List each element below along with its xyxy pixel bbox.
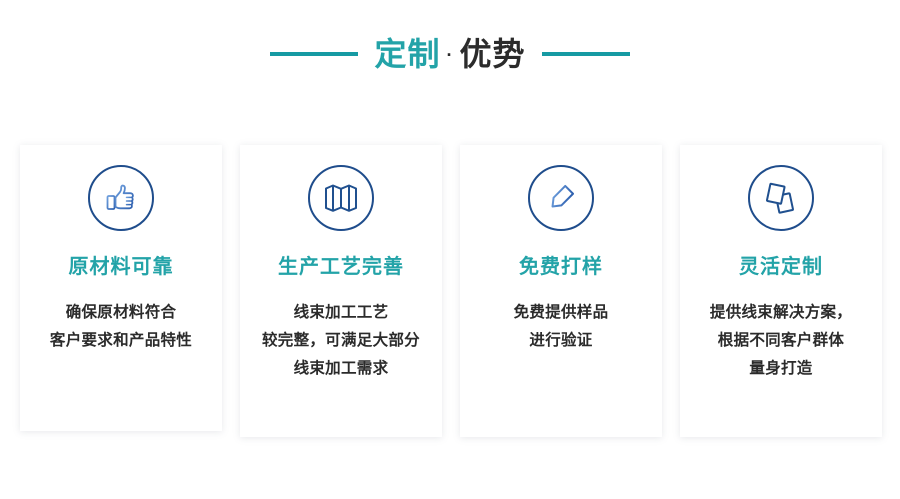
card-title: 灵活定制 xyxy=(739,257,823,277)
card-title: 原材料可靠 xyxy=(69,257,174,277)
card-title: 生产工艺完善 xyxy=(278,257,404,277)
folded-map-icon xyxy=(324,183,358,213)
icon-circle xyxy=(528,165,594,231)
heading-rule-left xyxy=(270,52,358,56)
advantage-card-list: 原材料可靠 确保原材料符合 客户要求和产品特性 生产工艺完善 线束加工工艺 较完… xyxy=(20,145,882,437)
icon-circle xyxy=(748,165,814,231)
card-description: 提供线束解决方案， 根据不同客户群体 量身打造 xyxy=(704,299,858,383)
advantage-card[interactable]: 灵活定制 提供线束解决方案， 根据不同客户群体 量身打造 xyxy=(680,145,882,437)
heading-secondary-text: 优势 xyxy=(460,38,526,70)
advantage-card[interactable]: 免费打样 免费提供样品 进行验证 xyxy=(460,145,662,437)
heading-rule-right xyxy=(542,52,630,56)
icon-circle xyxy=(88,165,154,231)
heading-text: 定制 · 优势 xyxy=(374,38,525,70)
card-description: 免费提供样品 进行验证 xyxy=(508,299,615,355)
card-description: 线束加工工艺 较完整，可满足大部分 线束加工需求 xyxy=(256,299,426,383)
heading-primary-text: 定制 xyxy=(374,38,440,70)
heading-separator-dot: · xyxy=(441,46,460,64)
advantage-card[interactable]: 原材料可靠 确保原材料符合 客户要求和产品特性 xyxy=(20,145,222,431)
thumbs-up-icon xyxy=(104,181,138,215)
pencil-icon xyxy=(544,181,578,215)
advantage-card[interactable]: 生产工艺完善 线束加工工艺 较完整，可满足大部分 线束加工需求 xyxy=(240,145,442,437)
icon-circle xyxy=(308,165,374,231)
stacked-cards-icon xyxy=(764,182,798,214)
card-description: 确保原材料符合 客户要求和产品特性 xyxy=(44,299,198,355)
card-title: 免费打样 xyxy=(519,257,603,277)
section-heading: 定制 · 优势 xyxy=(0,28,900,80)
